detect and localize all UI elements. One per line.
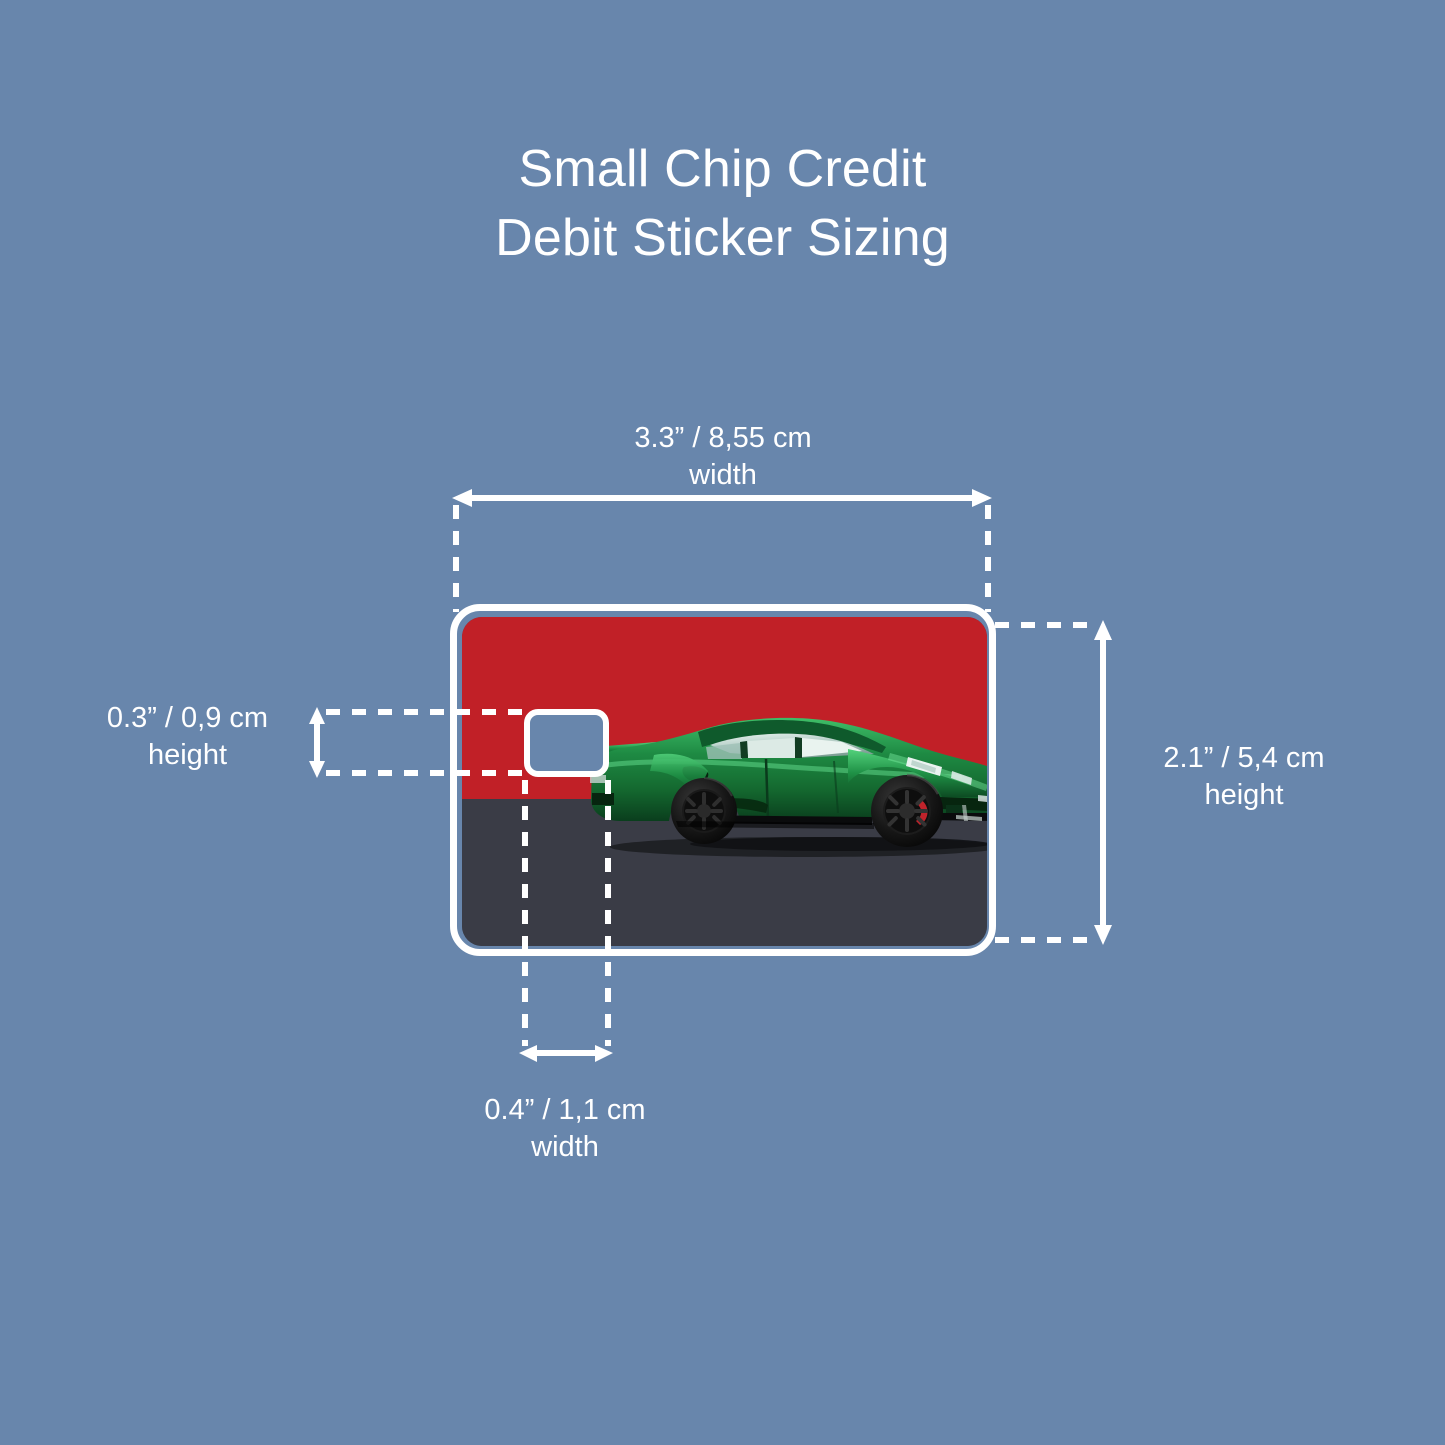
arrow-right-top-head: [1094, 620, 1112, 640]
dimension-unit-chip-width: width: [410, 1129, 720, 1166]
dimension-value-card-width: 3.3” / 8,55 cm: [634, 422, 811, 454]
sizing-diagram: Small Chip Credit Debit Sticker Sizing: [0, 0, 1445, 1445]
dimension-unit-chip-height: height: [75, 737, 300, 774]
dimension-unit-card-width: width: [508, 457, 938, 494]
dimension-value-chip-width: 0.4” / 1,1 cm: [484, 1094, 645, 1126]
dimension-unit-card-height: height: [1119, 777, 1369, 814]
chip-cutout: [524, 709, 609, 777]
arrow-left-bottom-head: [309, 761, 325, 778]
dimension-label-chip-height: 0.3” / 0,9 cm height: [75, 700, 300, 774]
dimension-value-chip-height: 0.3” / 0,9 cm: [107, 702, 268, 734]
dimension-label-chip-width: 0.4” / 1,1 cm width: [410, 1092, 720, 1166]
arrow-right-bottom-head: [1094, 925, 1112, 945]
arrow-left-top-head: [309, 707, 325, 724]
dimension-label-card-width: 3.3” / 8,55 cm width: [508, 420, 938, 494]
sports-car-illustration: [590, 701, 987, 861]
arrow-bottom-left-head: [519, 1045, 537, 1062]
arrow-bottom-right-head: [595, 1045, 613, 1062]
card-artwork: [462, 617, 987, 946]
page-title: Small Chip Credit Debit Sticker Sizing: [0, 135, 1445, 272]
dimension-label-card-height: 2.1” / 5,4 cm height: [1119, 740, 1369, 814]
page-title-line-2: Debit Sticker Sizing: [0, 204, 1445, 273]
page-title-line-1: Small Chip Credit: [0, 135, 1445, 204]
arrow-top-left-head: [452, 489, 472, 507]
dimension-value-card-height: 2.1” / 5,4 cm: [1163, 742, 1324, 774]
arrow-top-right-head: [972, 489, 992, 507]
